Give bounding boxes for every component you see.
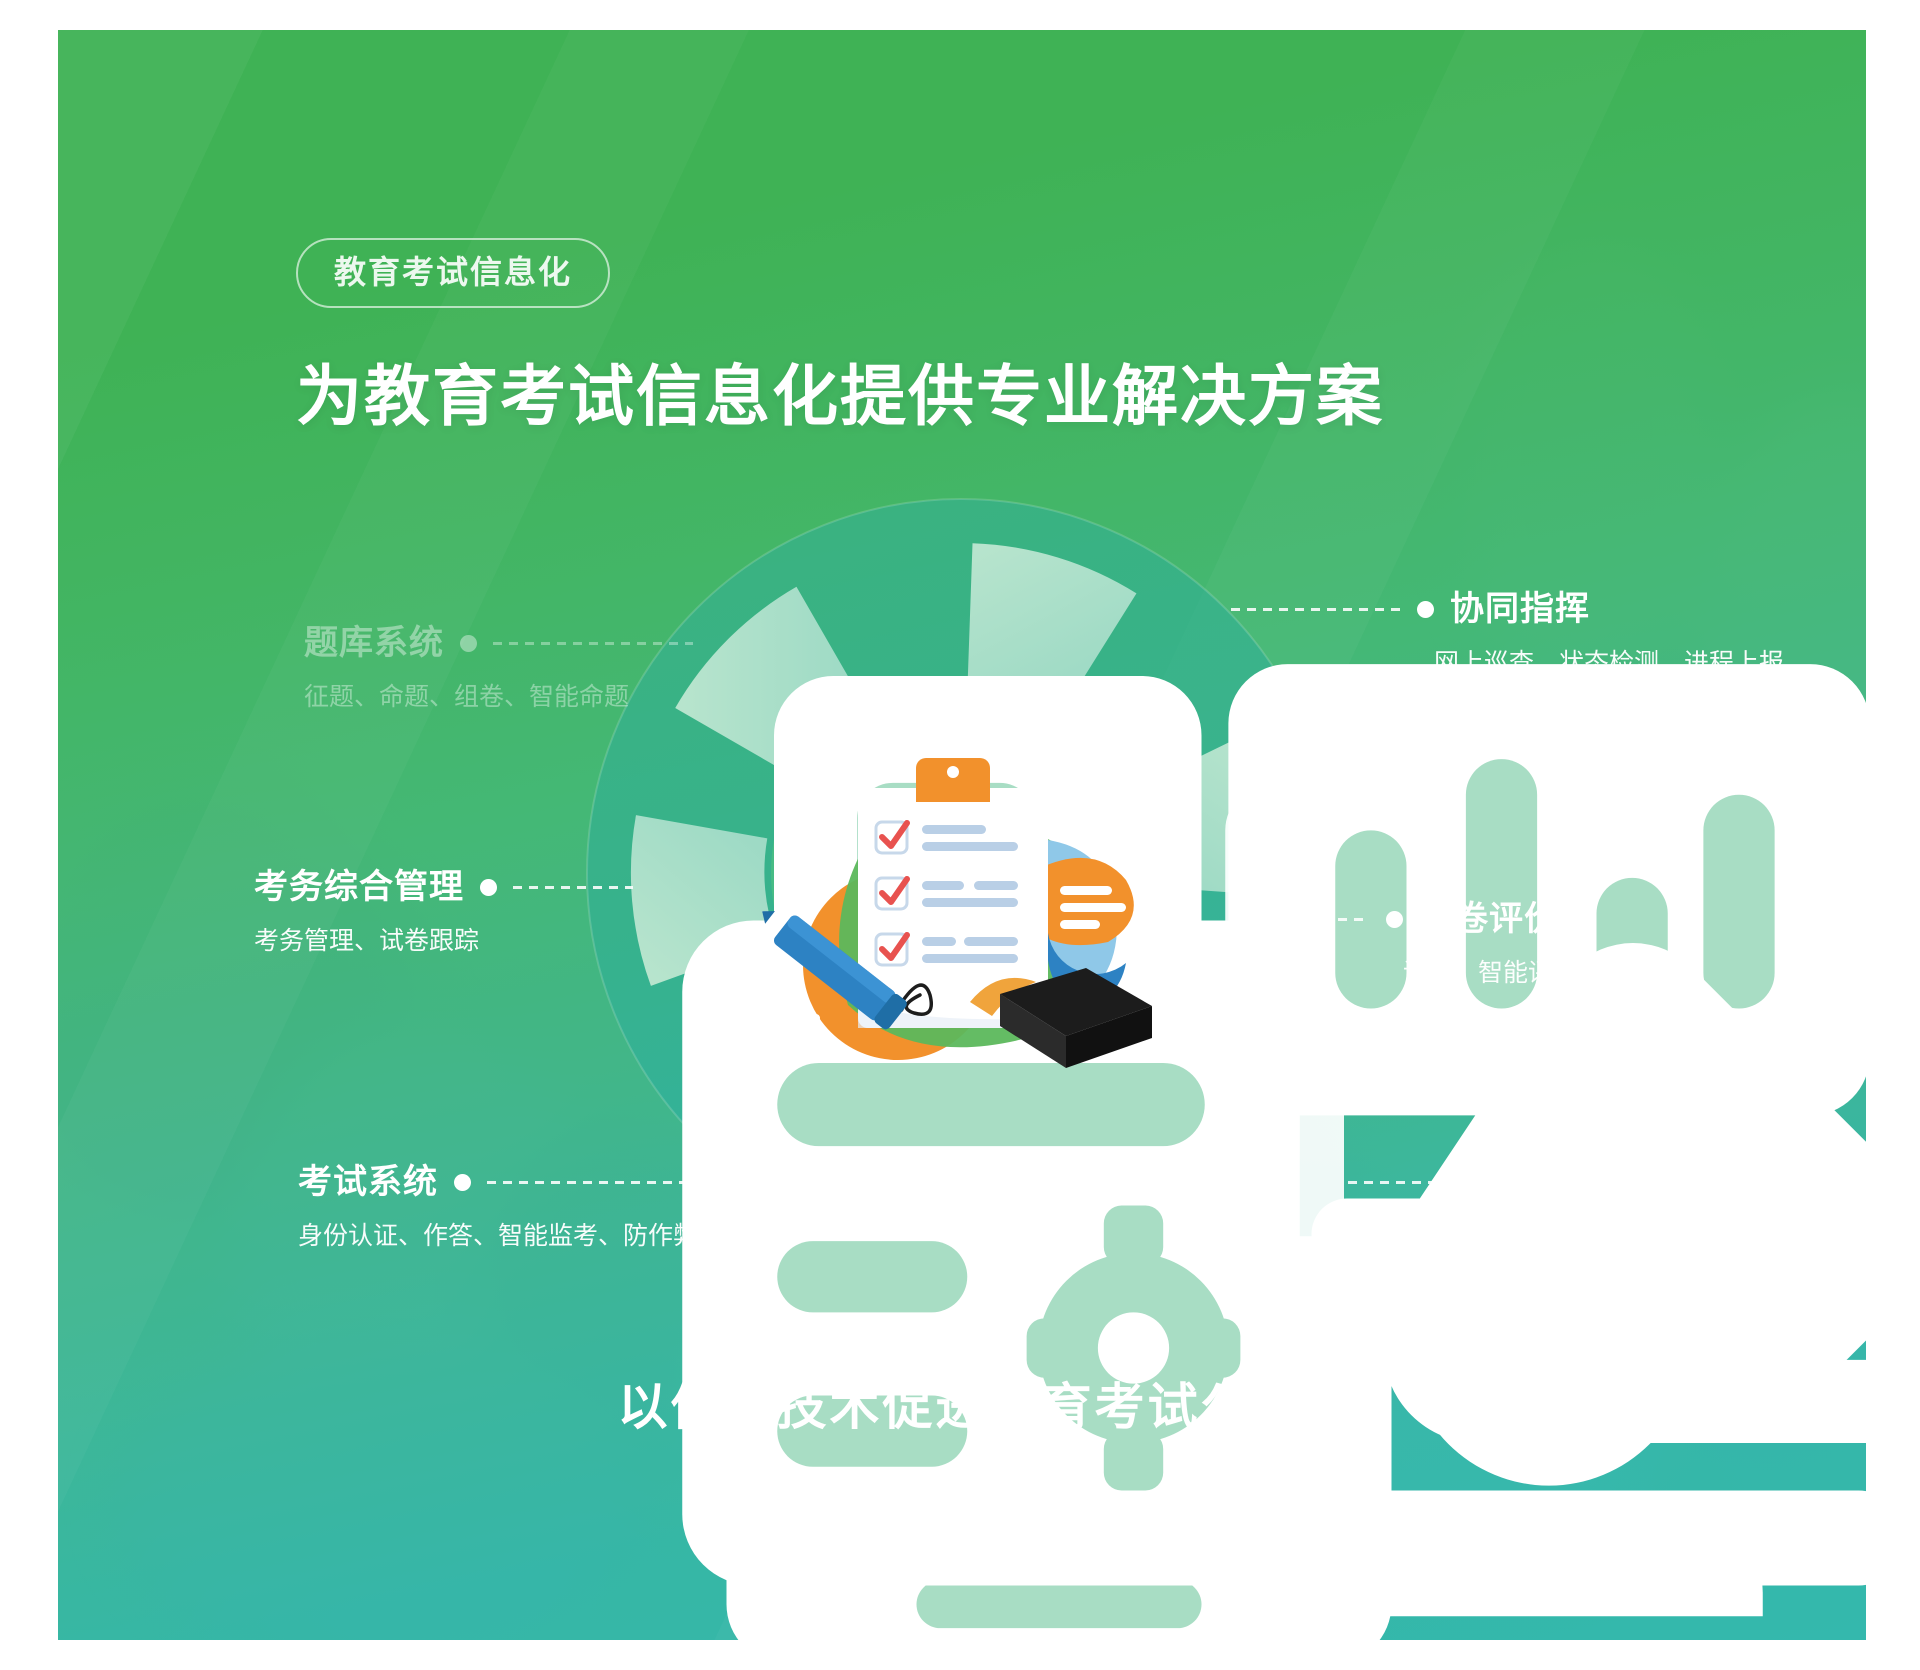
callout-kaoshi[interactable]: 考试系统 身份认证、作答、智能监考、防作弊	[298, 1165, 717, 1256]
callout-kaowu-title: 考务综合管理	[254, 870, 464, 904]
callout-xietong-subtitle-line-1: 网上巡查、状态检测、进程上报	[1434, 644, 1784, 683]
bottom-tagline: 以信息技术促进教育考试公平	[58, 1382, 1866, 1432]
callout-kaosheng-subtitle: 报名、志愿填报、综合查询	[1493, 1217, 1793, 1256]
callout-tiku[interactable]: 题库系统 征题、命题、组卷、智能命题	[304, 626, 693, 717]
callout-xietong-title: 协同指挥	[1450, 592, 1590, 626]
leader-line	[1231, 608, 1401, 611]
callout-dot-icon	[460, 635, 477, 652]
callout-pingjuan-subtitle: 评卷、智能评分、考生评价	[1403, 954, 1703, 993]
callout-kaoshi-title: 考试系统	[298, 1165, 438, 1199]
callout-kaowu[interactable]: 考务综合管理 考务管理、试卷跟踪	[254, 870, 633, 961]
callout-xietong-subtitle-line-2: 异常预警、突发事件处置	[1434, 683, 1784, 722]
page-title: 为教育考试信息化提供专业解决方案	[296, 360, 1384, 433]
leader-line	[493, 642, 693, 645]
callout-pingjuan-title: 评卷评价	[1419, 902, 1559, 936]
callout-dot-icon	[1386, 911, 1403, 928]
callout-xietong[interactable]: 协同指挥 网上巡查、状态检测、进程上报 异常预警、突发事件处置	[1231, 592, 1784, 722]
screenshot-root: 教育考试信息化 为教育考试信息化提供专业解决方案	[0, 0, 1920, 1670]
callout-kaosheng[interactable]: 考生服务 报名、志愿填报、综合查询	[1348, 1165, 1793, 1256]
callout-dot-icon	[454, 1174, 471, 1191]
callout-dot-icon	[1476, 1174, 1493, 1191]
leader-line	[487, 1181, 717, 1184]
callout-kaowu-subtitle: 考务管理、试卷跟踪	[254, 922, 633, 961]
callout-kaoshi-subtitle: 身份认证、作答、智能监考、防作弊	[298, 1217, 717, 1256]
callout-pingjuan[interactable]: 评卷评价 评卷、智能评分、考生评价	[1258, 902, 1703, 993]
leader-line	[1258, 918, 1370, 921]
callout-dot-icon	[480, 879, 497, 896]
leader-line	[513, 886, 633, 889]
callout-dot-icon	[1417, 601, 1434, 618]
callout-tiku-title: 题库系统	[304, 626, 444, 660]
hero-banner: 教育考试信息化 为教育考试信息化提供专业解决方案	[58, 30, 1866, 1640]
clipboard-illustration	[748, 720, 1178, 1100]
leader-line	[1348, 1181, 1460, 1184]
callout-kaosheng-title: 考生服务	[1509, 1165, 1649, 1199]
eyebrow-badge: 教育考试信息化	[296, 238, 610, 308]
callout-tiku-subtitle: 征题、命题、组卷、智能命题	[304, 678, 693, 717]
